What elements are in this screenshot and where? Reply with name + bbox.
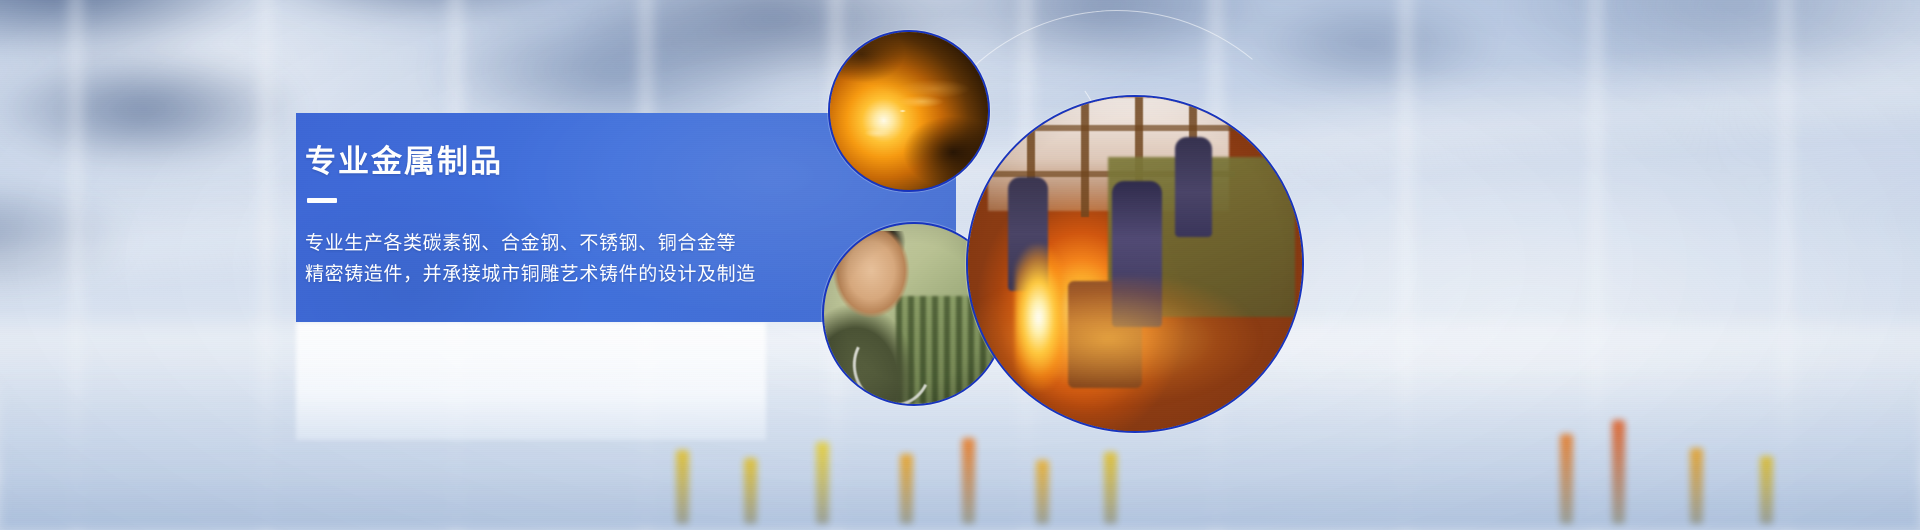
- welding-photo-shadow: [830, 32, 988, 190]
- welding-sparks-photo: [828, 30, 990, 192]
- foundry-photo-vignette: [968, 97, 1302, 431]
- hero-banner: 专业金属制品 专业生产各类碳素钢、合金钢、不锈钢、铜合金等 精密铸造件，并承接城…: [0, 0, 1920, 530]
- white-panel-backdrop: [296, 322, 766, 440]
- foundry-pour-photo: [966, 95, 1304, 433]
- title-divider-rule: [307, 198, 337, 203]
